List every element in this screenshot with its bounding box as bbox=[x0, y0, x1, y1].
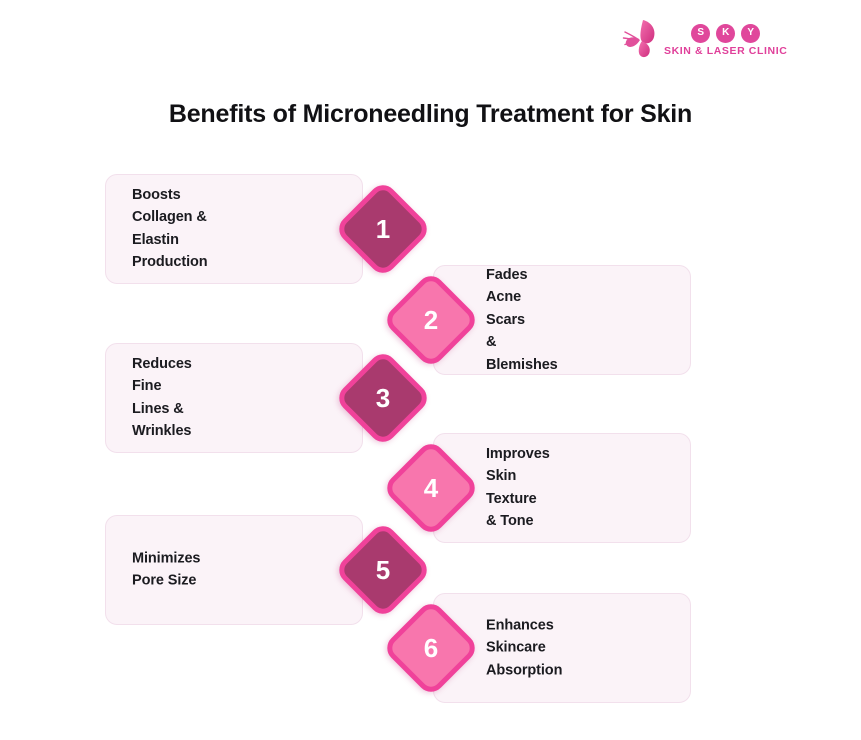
benefit-number-5: 5 bbox=[353, 540, 413, 600]
benefit-text-2: Fades Acne Scars & Blemishes bbox=[486, 264, 558, 376]
benefit-text-1: Boosts Collagen & Elastin Production bbox=[132, 184, 208, 274]
benefit-number-4: 4 bbox=[401, 458, 461, 518]
benefit-number-6: 6 bbox=[401, 618, 461, 678]
benefit-number-3: 3 bbox=[353, 368, 413, 428]
benefit-text-6: Enhances Skincare Absorption bbox=[486, 614, 562, 681]
benefit-number-1: 1 bbox=[353, 199, 413, 259]
benefit-text-3: Reduces Fine Lines & Wrinkles bbox=[132, 353, 192, 443]
benefit-text-4: Improves Skin Texture & Tone bbox=[486, 443, 550, 533]
benefits-list: Boosts Collagen & Elastin Production 1 F… bbox=[0, 0, 861, 740]
benefit-number-2: 2 bbox=[401, 290, 461, 350]
benefit-text-5: Minimizes Pore Size bbox=[132, 548, 200, 593]
